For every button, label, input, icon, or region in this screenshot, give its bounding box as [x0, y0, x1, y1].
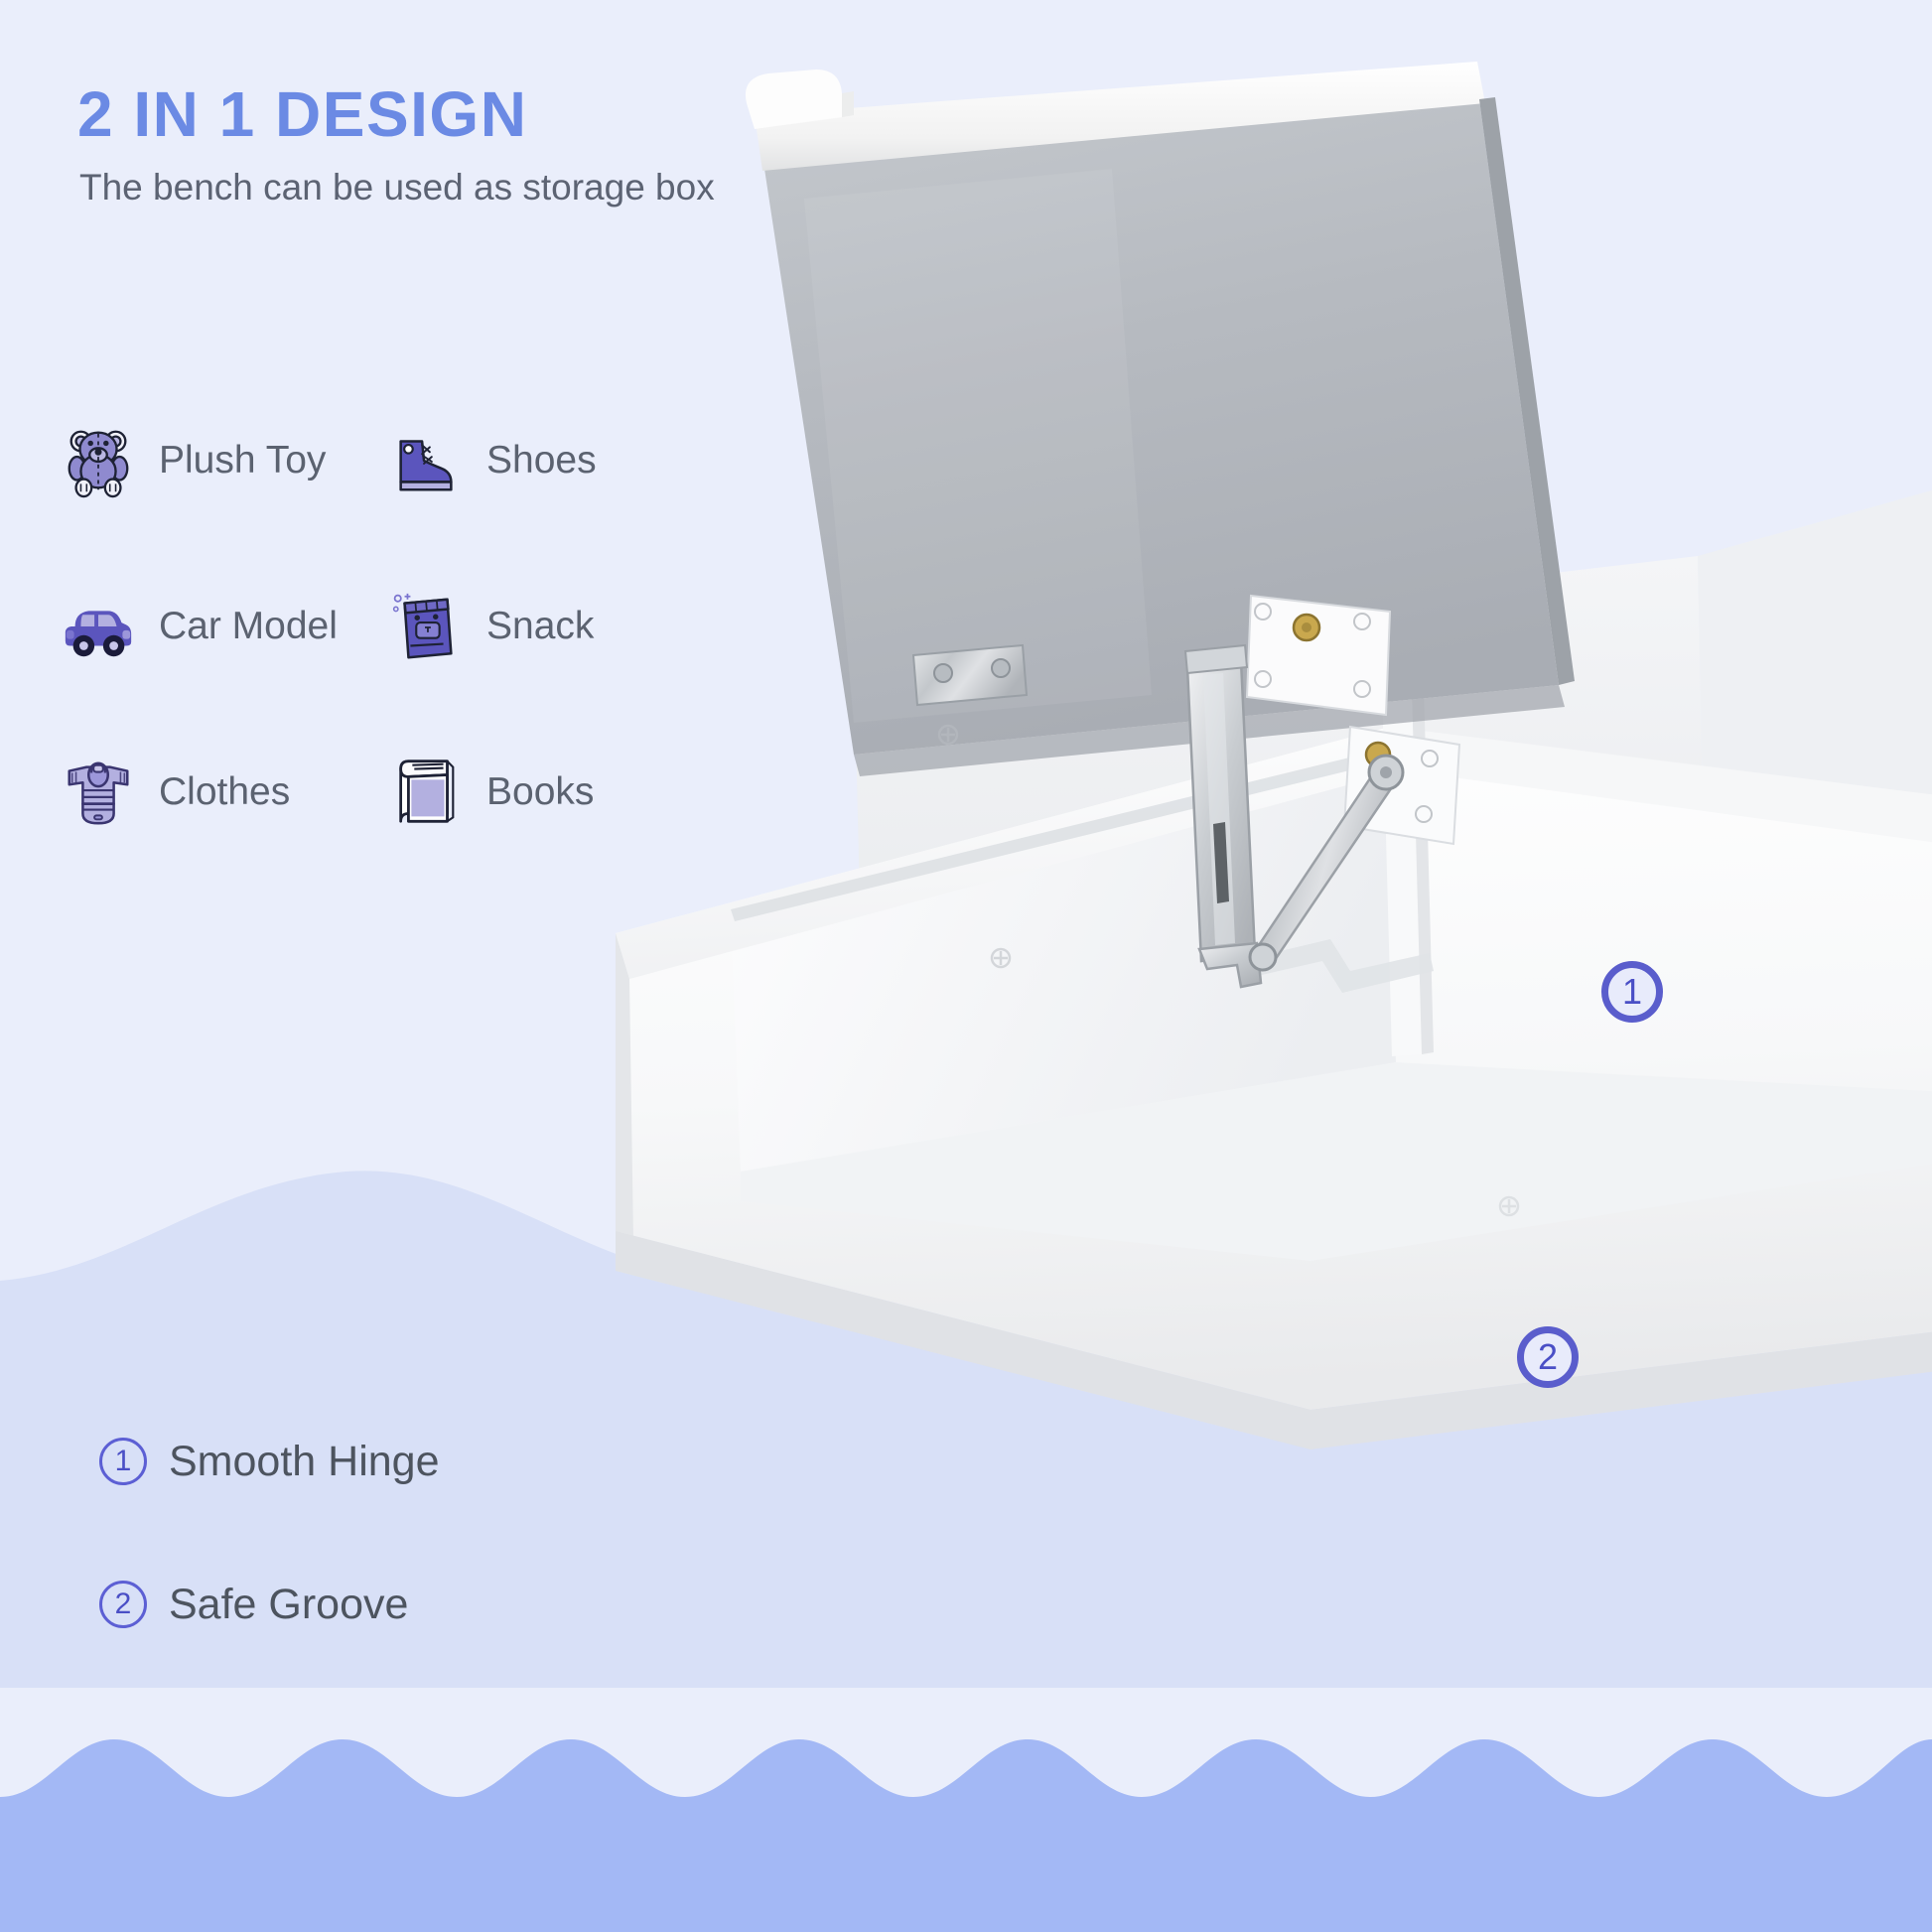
feature-item-car-model: Car Model	[60, 543, 387, 709]
numbered-legend: 1 Smooth Hinge 2 Safe Groove	[99, 1390, 655, 1676]
callout-marker-2: 2	[1517, 1326, 1579, 1388]
legend-number: 2	[99, 1581, 147, 1628]
feature-label: Plush Toy	[159, 439, 326, 483]
legend-item-safe-groove: 2 Safe Groove	[99, 1533, 655, 1676]
legend-number: 1	[99, 1438, 147, 1485]
callout-marker-1: 1	[1601, 961, 1663, 1023]
feature-item-clothes: Clothes	[60, 709, 387, 875]
feature-label: Shoes	[486, 439, 597, 483]
feature-item-books: Books	[387, 709, 715, 875]
infographic-canvas: 1 2 2 IN 1 DESIGN The bench can be used …	[0, 0, 1932, 1932]
feature-label: Snack	[486, 605, 594, 648]
hinge-plate-left	[913, 645, 1027, 705]
boot-icon	[387, 422, 465, 499]
wave-divider-bottom	[0, 1648, 1932, 1932]
feature-label: Books	[486, 770, 594, 814]
feature-item-snack: Snack	[387, 543, 715, 709]
feature-item-shoes: Shoes	[387, 377, 715, 543]
snack-bag-icon	[387, 588, 465, 665]
feature-item-plush-toy: Plush Toy	[60, 377, 387, 543]
legend-label: Safe Groove	[169, 1581, 408, 1629]
book-icon	[387, 754, 465, 831]
feature-label: Clothes	[159, 770, 290, 814]
toy-car-icon	[60, 588, 137, 665]
page-subtitle: The bench can be used as storage box	[79, 167, 715, 208]
feature-list: Plush Toy Shoes	[60, 377, 715, 875]
page-title: 2 IN 1 DESIGN	[77, 77, 527, 151]
legend-label: Smooth Hinge	[169, 1438, 440, 1486]
teddy-bear-icon	[60, 422, 137, 499]
legend-item-smooth-hinge: 1 Smooth Hinge	[99, 1390, 655, 1533]
product-photo-storage-bench	[556, 60, 1932, 1549]
feature-label: Car Model	[159, 605, 338, 648]
baby-onesie-icon	[60, 754, 137, 831]
